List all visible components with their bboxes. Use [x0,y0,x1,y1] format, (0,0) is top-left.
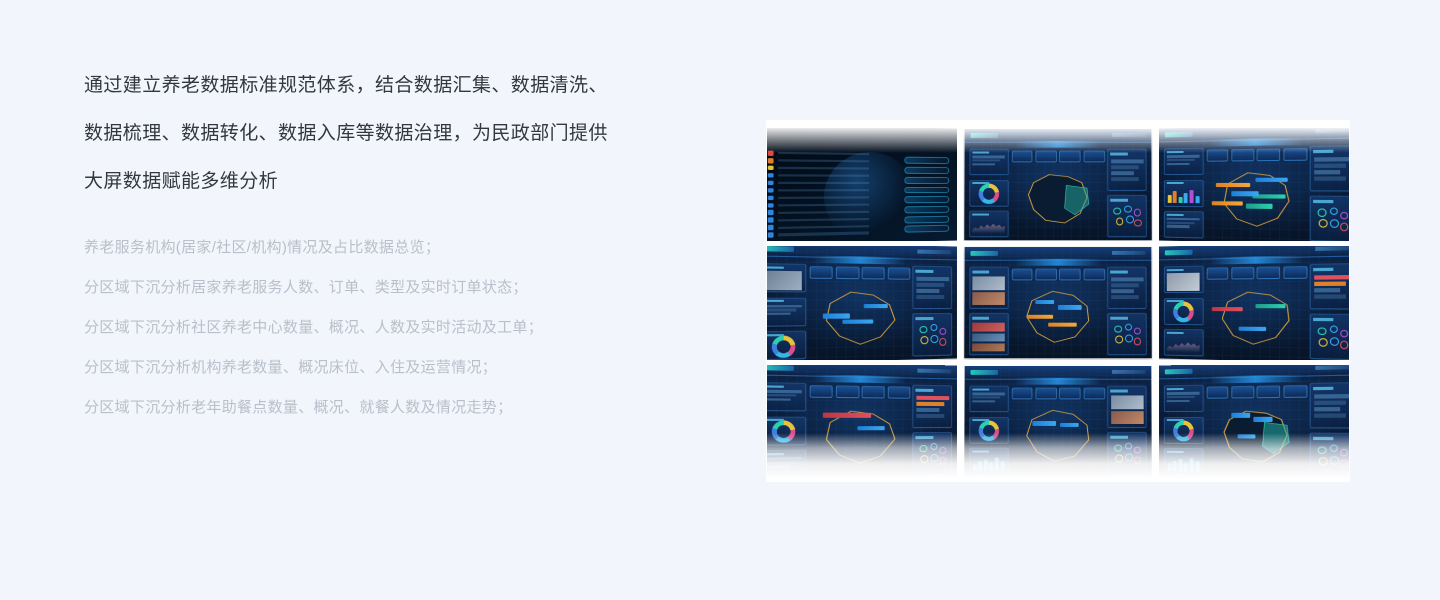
heading-line-3: 大屏数据赋能多维分析 [84,158,684,206]
screenshot-panel-2[interactable] [963,128,1153,241]
dashboard-title-bar [1015,141,1101,147]
region-map [1210,283,1303,355]
dashboard-screenshot-grid [766,120,1350,482]
side-menu[interactable] [904,157,950,233]
region-map [1210,401,1303,473]
right-panel-column [1108,149,1148,237]
region-map [813,283,906,355]
list-item: 养老服务机构(居家/社区/机构)情况及占比数据总览； [84,228,684,268]
notification-list [768,150,868,238]
donut-chart [978,184,999,205]
screenshot-panel-1[interactable] [767,128,957,241]
heading-line-1: 通过建立养老数据标准规范体系，结合数据汇集、数据清洗、 [84,62,684,110]
dark-menu-dashboard [767,128,957,241]
heading-line-2: 数据梳理、数据转化、数据入库等数据治理，为民政部门提供 [84,110,684,158]
list-item: 分区域下沉分析社区养老中心数量、概况、人数及实时活动及工单； [84,308,684,348]
dashboard-title-bar [1015,378,1101,384]
screenshot-panel-8[interactable] [963,365,1153,478]
screenshot-grid [767,128,1349,478]
region-map [1015,284,1101,351]
dashboard-title-bar [813,375,906,383]
logo [970,133,998,138]
screenshot-panel-7[interactable] [767,365,957,478]
region-map [1210,164,1303,236]
screenshot-panel-9[interactable] [1159,365,1349,478]
list-item: 分区域下沉分析老年助餐点数量、概况、就餐人数及情况走势； [84,388,684,428]
dashboard-title-bar [1015,260,1101,266]
screenshot-panel-5[interactable] [963,246,1153,359]
screenshot-panel-4[interactable] [767,246,957,359]
clock [1112,133,1146,137]
list-item: 分区域下沉分析居家养老服务人数、订单、类型及实时订单状态； [84,268,684,308]
region-map [1015,166,1101,233]
kpi-row [1011,150,1104,162]
list-item: 分区域下沉分析机构养老数量、概况床位、入住及运营情况； [84,348,684,388]
left-panel-column [969,149,1009,237]
screenshot-panel-6[interactable] [1159,246,1349,359]
feature-list: 养老服务机构(居家/社区/机构)情况及占比数据总览； 分区域下沉分析居家养老服务… [84,228,684,428]
area-chart [972,221,1005,233]
region-map [1015,402,1101,469]
region-map [813,401,906,473]
description-block: 通过建立养老数据标准规范体系，结合数据汇集、数据清洗、 数据梳理、数据转化、数据… [84,62,684,428]
screenshot-panel-3[interactable] [1159,128,1349,241]
page-heading: 通过建立养老数据标准规范体系，结合数据汇集、数据清洗、 数据梳理、数据转化、数据… [84,62,684,206]
